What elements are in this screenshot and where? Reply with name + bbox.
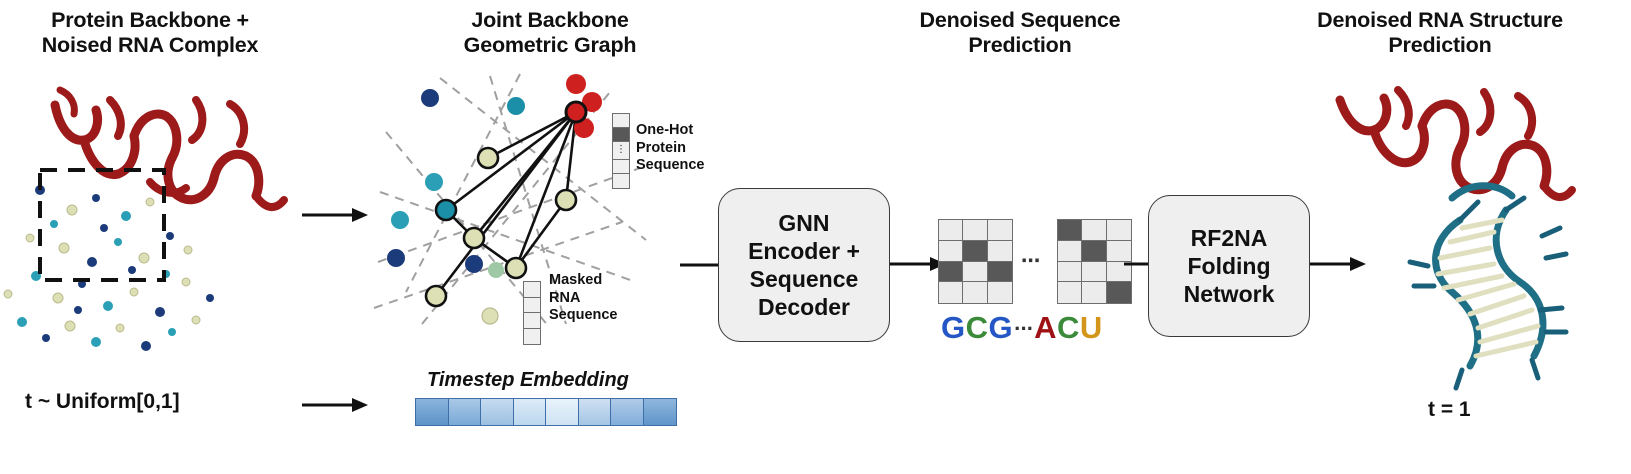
seq-letter: G	[941, 312, 966, 343]
masked-rna-label-line3: Sequence	[549, 307, 649, 325]
input-complex-illustration	[0, 70, 300, 370]
matrix-cell	[963, 282, 987, 303]
masked-rna-label-line1: Masked	[549, 272, 649, 290]
timestep-embedding-bar	[415, 398, 677, 426]
timestep-cell	[611, 399, 644, 425]
matrix-cell	[988, 282, 1012, 303]
seq-letter: C	[1057, 312, 1080, 343]
panel-title-graph: Joint Backbone Geometric Graph	[410, 8, 690, 59]
timestep-embedding-title: Timestep Embedding	[427, 369, 629, 392]
strip-cell	[613, 160, 629, 174]
matrix-cell	[963, 220, 987, 241]
panel-title-structure: Denoised RNA Structure Prediction	[1255, 8, 1625, 59]
panel-title-sequence-line1: Denoised Sequence	[870, 8, 1170, 33]
matrix-cell	[939, 220, 963, 241]
noised-rna-point-cloud	[4, 185, 214, 351]
panel-title-graph-line2: Geometric Graph	[410, 33, 690, 58]
strip-cell	[613, 114, 629, 128]
panel-title-sequence: Denoised Sequence Prediction	[870, 8, 1170, 59]
masked-rna-strip	[523, 281, 541, 345]
matrix-cell	[988, 262, 1012, 283]
matrix-cell	[1107, 220, 1131, 241]
matrix-cell	[1082, 220, 1106, 241]
seq-letter: A	[1034, 312, 1057, 343]
timestep-cell	[579, 399, 612, 425]
panel-title-input-line2: Noised RNA Complex	[0, 33, 300, 58]
strip-cell	[613, 174, 629, 188]
strip-cell	[613, 128, 629, 142]
onehot-protein-strip: ⋮	[612, 113, 630, 189]
protein-ribbon-red	[55, 90, 284, 207]
matrix-ellipsis: ⋯	[1021, 250, 1041, 273]
figure-canvas: Protein Backbone + Noised RNA Complex Jo…	[0, 0, 1631, 474]
rf2na-box-line1: RF2NA	[1184, 224, 1275, 252]
panel-title-structure-line1: Denoised RNA Structure	[1255, 8, 1625, 33]
matrix-cell	[939, 262, 963, 283]
matrix-cell	[939, 282, 963, 303]
timestep-cell	[644, 399, 677, 425]
gnn-encoder-decoder-box[interactable]: GNN Encoder + Sequence Decoder	[718, 188, 890, 342]
protein-ribbon-red-output	[1340, 90, 1572, 197]
gnn-box-line2: Encoder +	[748, 237, 860, 265]
strip-cell-ellipsis: ⋮	[613, 142, 629, 160]
gnn-box-line1: GNN	[748, 209, 860, 237]
matrix-cell	[1082, 241, 1106, 262]
panel-title-structure-line2: Prediction	[1255, 33, 1625, 58]
rf2na-box-line2: Folding	[1184, 252, 1275, 280]
denoised-structure-illustration	[1310, 70, 1631, 390]
gnn-box-line3: Sequence	[748, 265, 860, 293]
onehot-matrix-left	[938, 219, 1013, 304]
matrix-cell	[1107, 282, 1131, 303]
panel-title-input-line1: Protein Backbone +	[0, 8, 300, 33]
timestep-cell	[546, 399, 579, 425]
onehot-protein-label: One-Hot Protein Sequence	[636, 122, 726, 175]
rna-double-helix	[1410, 186, 1566, 388]
timestep-cell	[481, 399, 514, 425]
timestep-cell	[514, 399, 547, 425]
onehot-protein-label-line1: One-Hot	[636, 122, 726, 140]
rf2na-folding-network-box[interactable]: RF2NA Folding Network	[1148, 195, 1310, 337]
seq-letter: G	[989, 312, 1014, 343]
seq-letter: C	[966, 312, 989, 343]
caption-output-timestep: t = 1	[1428, 398, 1471, 422]
matrix-cell	[1058, 241, 1082, 262]
timestep-cell	[416, 399, 449, 425]
predicted-sequence-letters: G C G ··· A C U	[941, 312, 1103, 343]
gnn-box-line4: Decoder	[748, 293, 860, 321]
masked-rna-label: Masked RNA Sequence	[549, 272, 649, 325]
panel-title-graph-line1: Joint Backbone	[410, 8, 690, 33]
matrix-cell	[1082, 282, 1106, 303]
panel-title-sequence-line2: Prediction	[870, 33, 1170, 58]
onehot-protein-label-line2: Protein	[636, 140, 726, 158]
matrix-cell	[1058, 282, 1082, 303]
matrix-cell	[988, 220, 1012, 241]
matrix-cell	[1082, 262, 1106, 283]
panel-title-input: Protein Backbone + Noised RNA Complex	[0, 8, 300, 59]
masked-rna-label-line2: RNA	[549, 290, 649, 308]
matrix-cell	[939, 241, 963, 262]
strip-cell	[524, 329, 540, 345]
strip-cell	[524, 298, 540, 314]
matrix-cell	[963, 241, 987, 262]
seq-letter: U	[1080, 312, 1103, 343]
matrix-cell	[1058, 262, 1082, 283]
onehot-protein-label-line3: Sequence	[636, 157, 726, 175]
rf2na-box-line3: Network	[1184, 280, 1275, 308]
strip-cell	[524, 313, 540, 329]
matrix-cell	[988, 241, 1012, 262]
flow-arrow-1	[300, 200, 370, 230]
flow-arrow-timestep	[300, 390, 370, 420]
strip-cell	[524, 282, 540, 298]
seq-ellipsis: ···	[1013, 318, 1034, 343]
caption-input-timestep: t ~ Uniform[0,1]	[25, 390, 180, 414]
timestep-cell	[449, 399, 482, 425]
matrix-cell	[1058, 220, 1082, 241]
matrix-cell	[963, 262, 987, 283]
